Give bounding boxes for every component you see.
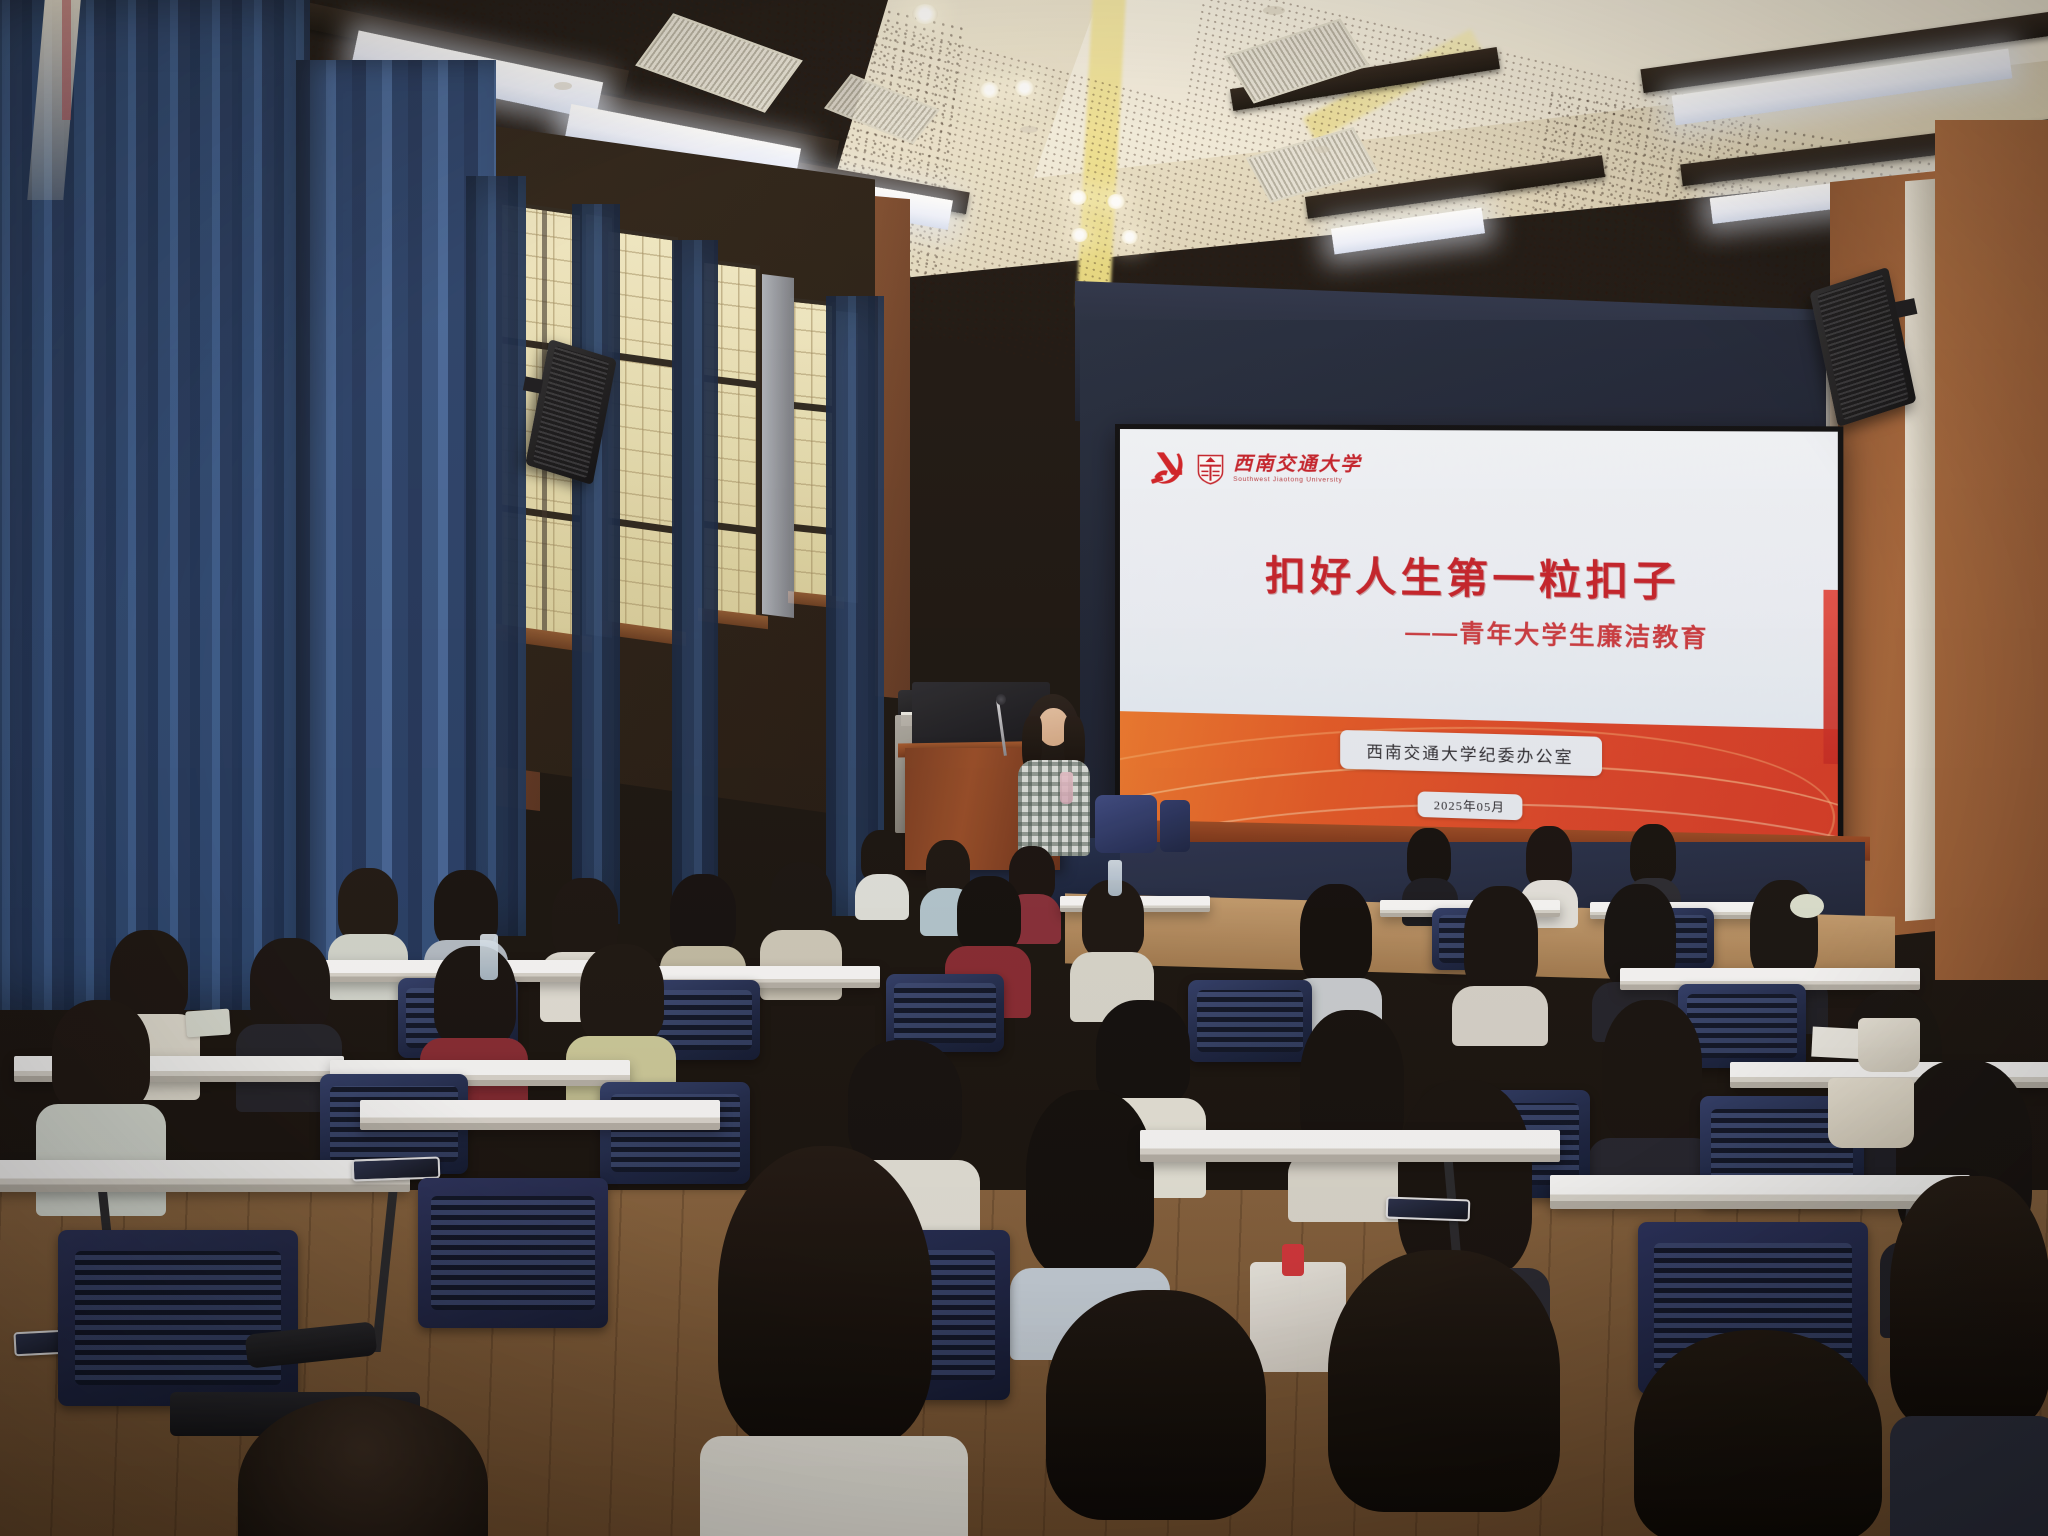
slide-subtitle: ——青年大学生廉洁教育 bbox=[1405, 612, 1708, 654]
student-torso bbox=[700, 1436, 968, 1536]
ceiling-sprinkler bbox=[1314, 146, 1330, 153]
water-bottle bbox=[1060, 772, 1073, 804]
student-hair bbox=[434, 946, 516, 1046]
water-bottle bbox=[1108, 860, 1122, 896]
university-name-block: 西南交通大学 Southwest Jiaotong University bbox=[1233, 454, 1362, 484]
recessed-downlight bbox=[979, 82, 1000, 98]
wall-silver-trim bbox=[1905, 179, 1935, 922]
seated-student bbox=[1452, 886, 1548, 1036]
student-hair bbox=[1026, 1090, 1154, 1276]
slide-logo-group: 西南交通大学 Southwest Jiaotong University bbox=[1148, 449, 1362, 489]
window-curtain bbox=[572, 204, 620, 924]
student-torso bbox=[1890, 1416, 2048, 1536]
student-hair bbox=[1890, 1176, 2048, 1426]
student-hair bbox=[1046, 1290, 1266, 1520]
seated-student bbox=[1070, 880, 1154, 1012]
student-hair bbox=[338, 868, 398, 942]
student-hair bbox=[1328, 1250, 1560, 1512]
hair-scrunchie bbox=[1790, 894, 1824, 918]
ceiling-sprinkler bbox=[554, 82, 572, 90]
student-hair bbox=[957, 876, 1021, 952]
slide-title: 扣好人生第一粒扣子 bbox=[1120, 541, 1838, 611]
bag-handle bbox=[1282, 1244, 1304, 1276]
student-hair bbox=[1398, 1080, 1532, 1276]
student-chair bbox=[418, 1178, 608, 1328]
window-curtain bbox=[672, 240, 718, 930]
student-hair bbox=[1634, 1330, 1882, 1536]
right-wood-wall-far bbox=[1935, 120, 2048, 980]
student-hair bbox=[238, 1396, 488, 1536]
podium-microphone-head bbox=[996, 694, 1006, 705]
recessed-downlight bbox=[1120, 230, 1139, 244]
presenter-at-podium bbox=[1010, 694, 1096, 854]
ceiling-sprinkler bbox=[1020, 126, 1038, 133]
lecture-hall-scene: 西南交通大学 Southwest Jiaotong University 扣好人… bbox=[0, 0, 2048, 1536]
student-hair bbox=[1526, 826, 1572, 888]
window-curtain bbox=[466, 176, 526, 936]
window-frame-sliver bbox=[62, 0, 71, 120]
projection-screen[interactable]: 西南交通大学 Southwest Jiaotong University 扣好人… bbox=[1115, 424, 1843, 868]
student-hair bbox=[52, 1000, 150, 1112]
university-shield-icon bbox=[1197, 453, 1224, 484]
stage-side-chair bbox=[1095, 795, 1157, 853]
presentation-slide: 西南交通大学 Southwest Jiaotong University 扣好人… bbox=[1120, 429, 1838, 862]
recessed-downlight bbox=[1070, 228, 1089, 242]
student-hair bbox=[1630, 824, 1676, 886]
ceiling-speaker-dot bbox=[1263, 6, 1285, 15]
tote-bag bbox=[1828, 1078, 1914, 1148]
cpc-hammer-sickle-emblem bbox=[1148, 449, 1188, 487]
seated-student bbox=[855, 830, 909, 910]
presenter-body bbox=[1018, 760, 1090, 856]
recessed-downlight bbox=[1068, 190, 1088, 205]
sheer-curtain bbox=[762, 274, 794, 618]
university-name-cn: 西南交通大学 bbox=[1233, 454, 1362, 474]
slide-date-pill: 2025年05月 bbox=[1417, 791, 1522, 820]
student-torso bbox=[855, 874, 909, 920]
seated-student-foreground bbox=[1030, 1290, 1300, 1536]
seated-student-foreground bbox=[1890, 1176, 2048, 1536]
student-hair bbox=[580, 944, 664, 1044]
seated-student bbox=[1588, 1000, 1716, 1196]
recessed-downlight bbox=[1014, 80, 1035, 96]
smartphone-on-desk bbox=[1386, 1197, 1471, 1222]
student-desk bbox=[360, 1100, 720, 1130]
folded-cloth bbox=[185, 1008, 231, 1037]
student-hair bbox=[1300, 884, 1372, 984]
student-hair bbox=[670, 874, 736, 954]
seated-student-foreground bbox=[1310, 1250, 1600, 1536]
recessed-downlight bbox=[912, 4, 938, 24]
university-name-en: Southwest Jiaotong University bbox=[1233, 477, 1362, 485]
student-hair bbox=[250, 938, 330, 1032]
student-hair bbox=[1464, 886, 1538, 994]
seated-student-foreground bbox=[1620, 1330, 1920, 1536]
student-hair bbox=[1602, 1000, 1702, 1144]
student-hair bbox=[718, 1146, 932, 1446]
student-chair bbox=[58, 1230, 298, 1406]
stage-side-chair bbox=[1160, 800, 1190, 852]
student-desk bbox=[1140, 1130, 1560, 1162]
student-hair bbox=[770, 862, 832, 938]
seated-student-foreground bbox=[700, 1146, 968, 1536]
recessed-downlight bbox=[1106, 194, 1126, 209]
slide-organization-pill: 西南交通大学纪委办公室 bbox=[1340, 730, 1602, 776]
student-torso bbox=[760, 930, 842, 1000]
window-curtain bbox=[826, 296, 884, 916]
screen-edge-red-bar bbox=[1823, 590, 1837, 764]
seated-student-foreground bbox=[238, 1396, 488, 1536]
student-torso bbox=[1452, 986, 1548, 1046]
student-desk bbox=[0, 1160, 410, 1192]
water-bottle bbox=[480, 934, 498, 980]
